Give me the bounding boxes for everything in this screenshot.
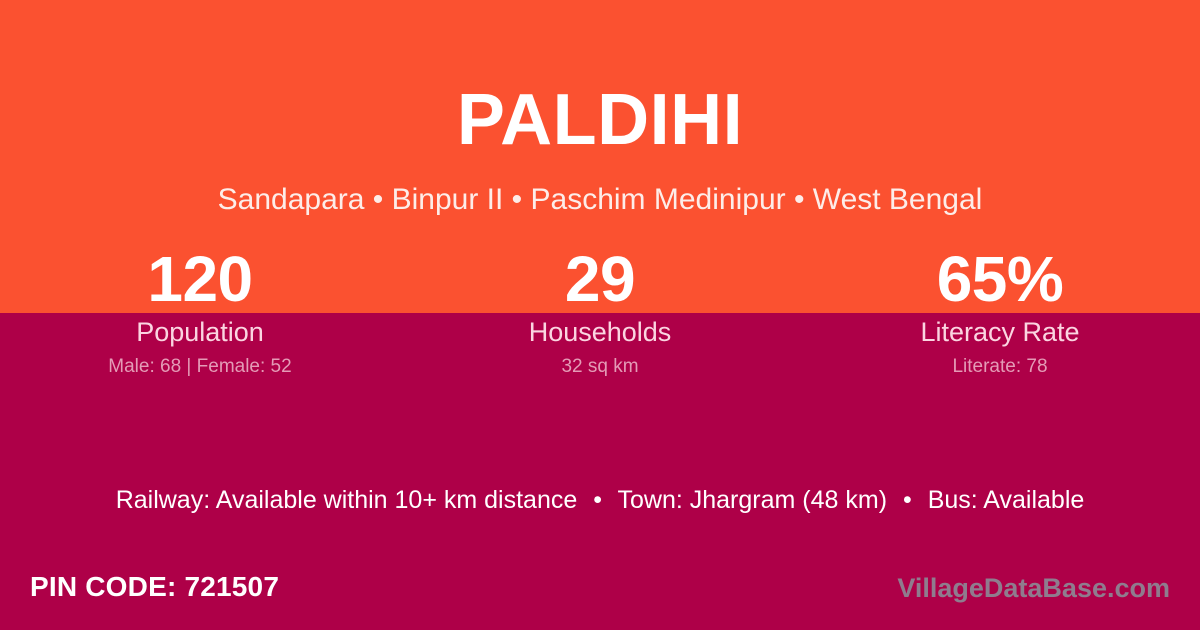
stat-households-sub: 32 sq km — [400, 355, 800, 379]
infra-railway: Railway: Available within 10+ km distanc… — [116, 486, 578, 514]
stat-households-value: 29 — [400, 246, 800, 313]
pin-code: PIN CODE: 721507 — [30, 570, 279, 604]
stat-households: 29 Households 32 sq km — [400, 246, 800, 379]
site-watermark: VillageDataBase.com — [897, 572, 1170, 604]
stat-population-label: Population — [0, 315, 400, 349]
stats-row: 120 Population Male: 68 | Female: 52 29 … — [0, 246, 1200, 379]
stat-population-value: 120 — [0, 246, 400, 313]
stat-literacy: 65% Literacy Rate Literate: 78 — [800, 246, 1200, 379]
stat-literacy-sub: Literate: 78 — [800, 355, 1200, 379]
page-title: PALDIHI — [0, 84, 1200, 156]
stat-population: 120 Population Male: 68 | Female: 52 — [0, 246, 400, 379]
village-info-card: PALDIHI Sandapara • Binpur II • Paschim … — [0, 0, 1200, 630]
infra-bus: Bus: Available — [928, 486, 1085, 514]
breadcrumb: Sandapara • Binpur II • Paschim Medinipu… — [0, 182, 1200, 218]
infra-separator-2: • — [894, 484, 921, 516]
stat-literacy-value: 65% — [800, 246, 1200, 313]
infrastructure-row: Railway: Available within 10+ km distanc… — [0, 484, 1200, 516]
infra-town: Town: Jhargram (48 km) — [618, 486, 888, 514]
footer: PIN CODE: 721507 VillageDataBase.com — [0, 556, 1200, 630]
stat-literacy-label: Literacy Rate — [800, 315, 1200, 349]
stat-households-label: Households — [400, 315, 800, 349]
stat-population-sub: Male: 68 | Female: 52 — [0, 355, 400, 379]
infra-separator-1: • — [584, 484, 611, 516]
